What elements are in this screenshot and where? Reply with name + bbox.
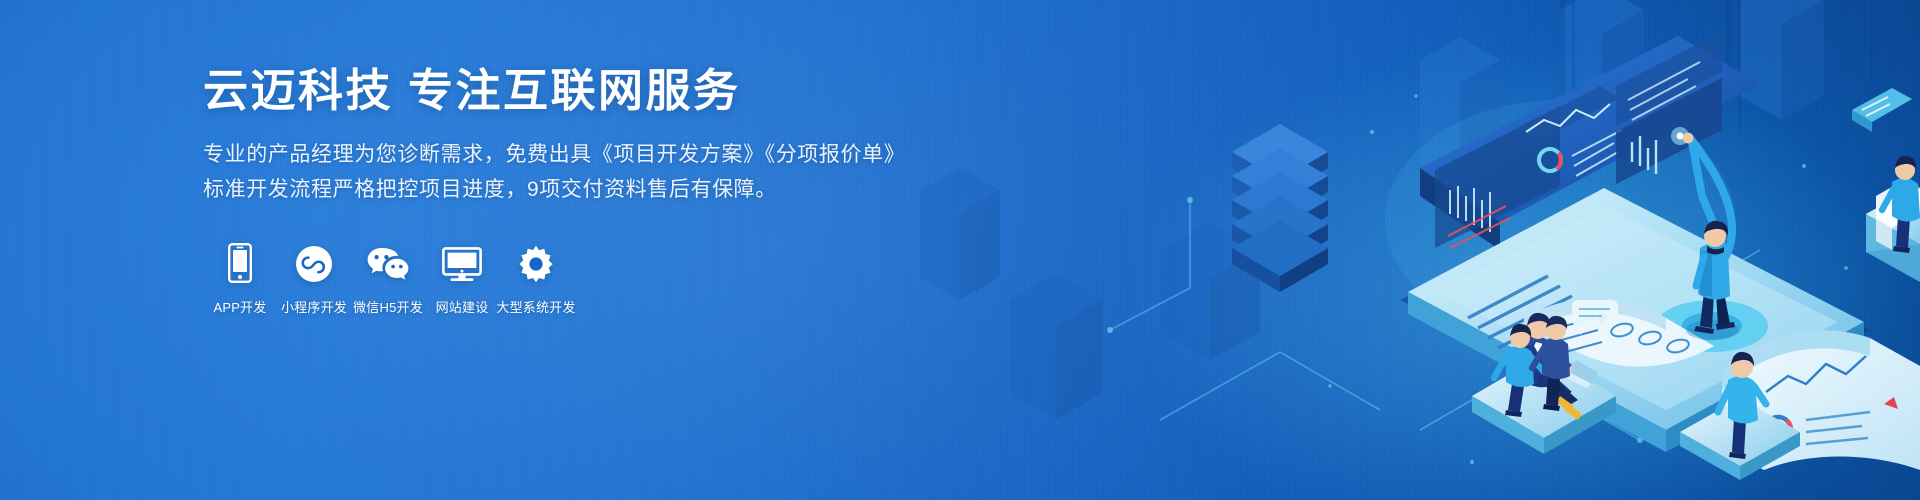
- service-label: 小程序开发: [281, 297, 347, 316]
- service-item-miniprogram[interactable]: 小程序开发: [277, 239, 351, 316]
- service-label: APP开发: [213, 297, 266, 316]
- service-icon-row: APP开发 小程序开发: [203, 239, 963, 316]
- wechat-icon: [366, 239, 410, 283]
- service-item-website[interactable]: 网站建设: [425, 239, 499, 316]
- service-item-large-system[interactable]: 大型系统开发: [499, 239, 573, 316]
- banner-subtitle-line-2: 标准开发流程严格把控项目进度，9项交付资料售后有保障。: [203, 172, 963, 207]
- hero-banner: 云迈科技 专注互联网服务 专业的产品经理为您诊断需求，免费出具《项目开发方案》《…: [0, 0, 1920, 500]
- banner-subtitle-line-1: 专业的产品经理为您诊断需求，免费出具《项目开发方案》《分项报价单》: [203, 143, 905, 166]
- banner-content: 云迈科技 专注互联网服务 专业的产品经理为您诊断需求，免费出具《项目开发方案》《…: [203, 64, 963, 316]
- service-item-wechat-h5[interactable]: 微信H5开发: [351, 239, 425, 316]
- service-label: 微信H5开发: [353, 297, 423, 316]
- service-item-app[interactable]: APP开发: [203, 239, 277, 316]
- mobile-phone-icon: [228, 239, 252, 283]
- gear-icon: [517, 239, 555, 283]
- desktop-monitor-icon: [442, 239, 482, 283]
- banner-subtitle: 专业的产品经理为您诊断需求，免费出具《项目开发方案》《分项报价单》 标准开发流程…: [203, 137, 963, 207]
- mini-program-icon: [295, 239, 333, 283]
- service-label: 大型系统开发: [496, 297, 575, 316]
- service-label: 网站建设: [436, 297, 489, 316]
- illustration: [860, 0, 1920, 500]
- banner-headline: 云迈科技 专注互联网服务: [203, 64, 963, 117]
